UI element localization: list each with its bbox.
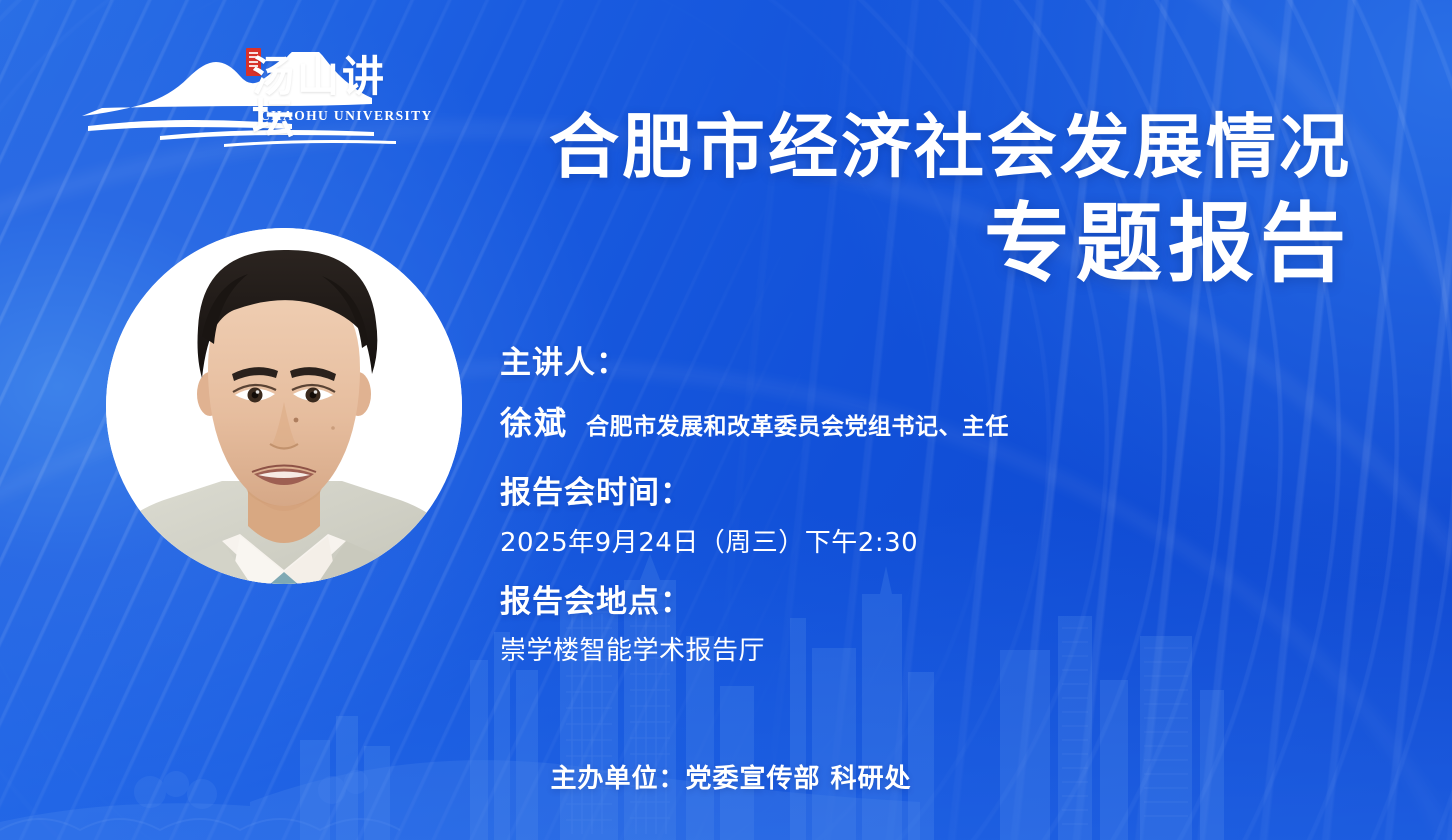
event-poster: 汤山讲坛 CHAOHU UNIVERSITY 合肥市经济社会发展情况 专题报告 xyxy=(0,0,1452,840)
logo-name-en: CHAOHU UNIVERSITY xyxy=(260,108,433,124)
title-line-2: 专题报告 xyxy=(549,201,1352,289)
logo-name-cn: 汤山讲坛 xyxy=(252,56,414,140)
avatar xyxy=(106,228,462,584)
event-details: 主讲人： 徐斌 合肥市发展和改革委员会党组书记、主任 报告会时间： 2025年9… xyxy=(500,344,1009,667)
speaker-portrait-image xyxy=(106,186,462,626)
time-label: 报告会时间： xyxy=(500,474,1009,512)
speaker-row: 徐斌 合肥市发展和改革委员会党组书记、主任 xyxy=(500,398,1009,444)
chaohu-university-logo: 汤山讲坛 CHAOHU UNIVERSITY xyxy=(74,52,414,148)
time-value: 2025年9月24日（周三）下午2:30 xyxy=(500,522,1009,559)
title-line-1: 合肥市经济社会发展情况 xyxy=(549,112,1352,183)
organizer-line: 主办单位：党委宣传部 科研处 xyxy=(0,758,1452,795)
speaker-name: 徐斌 xyxy=(500,398,568,444)
speaker-title: 合肥市发展和改革委员会党组书记、主任 xyxy=(586,407,1009,441)
page-title: 合肥市经济社会发展情况 专题报告 xyxy=(549,112,1352,289)
place-label: 报告会地点： xyxy=(500,583,1009,621)
place-value: 崇学楼智能学术报告厅 xyxy=(500,630,1009,667)
speaker-label: 主讲人： xyxy=(500,344,1009,382)
